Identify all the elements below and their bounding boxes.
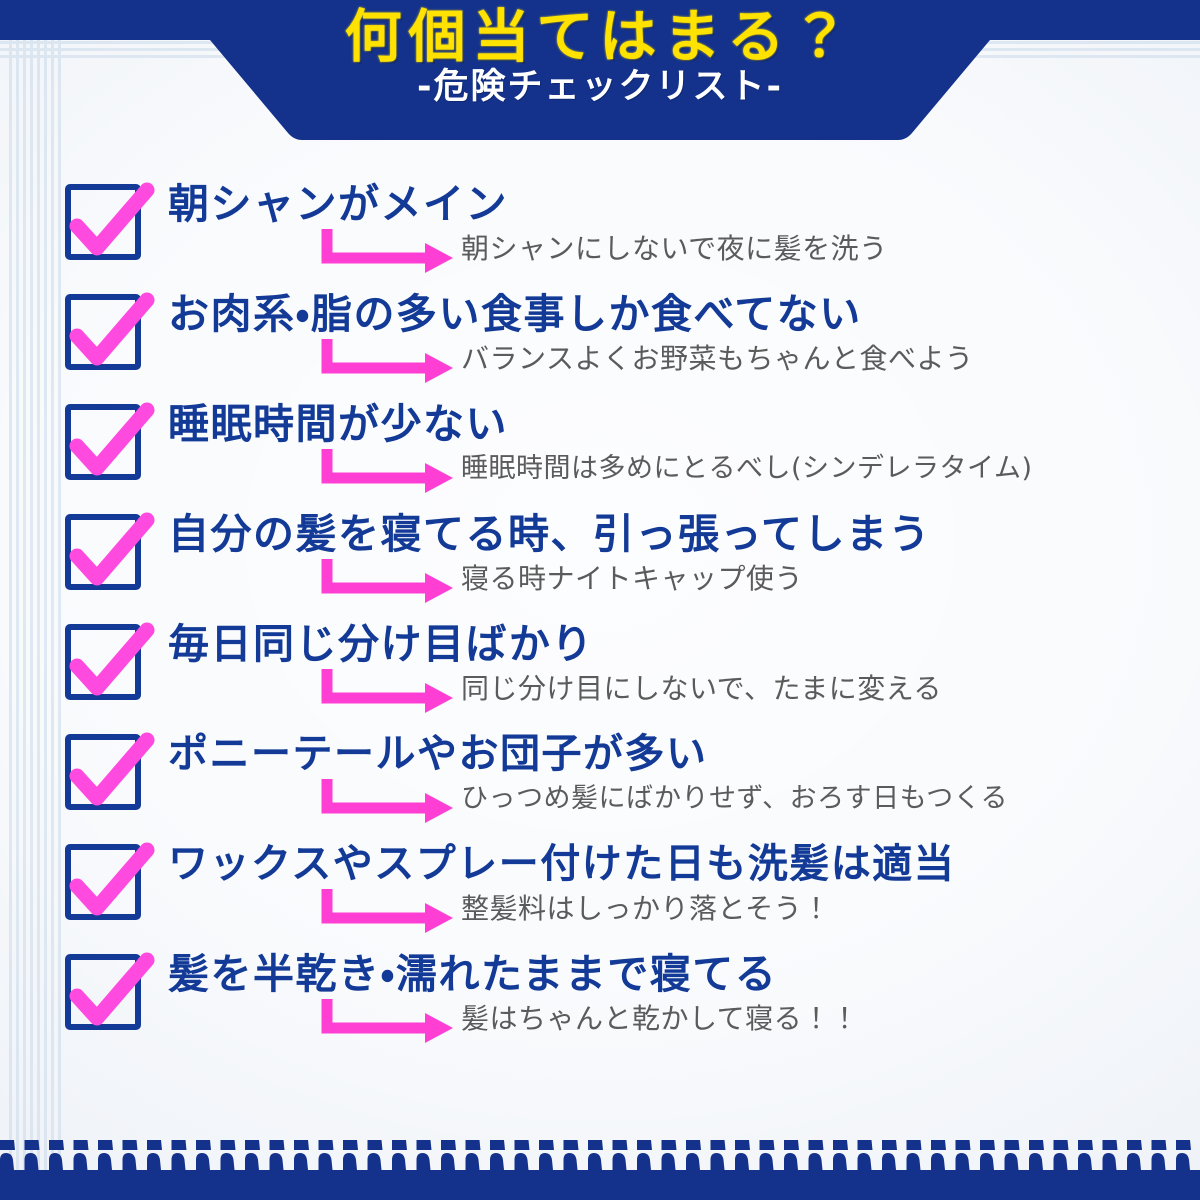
elbow-arrow-right-icon: [322, 777, 457, 821]
advice-text: バランスよくお野菜もちゃんと食べよう: [461, 342, 973, 376]
advice-text: 寝る時ナイトキャップ使う: [461, 562, 803, 596]
elbow-arrow-right-icon: [322, 997, 457, 1041]
elbow-arrow-right-icon: [322, 887, 457, 931]
checklist-row[interactable]: ワックスやスプレー付けた日も洗髪は適当 整髪料はしっかり落とそう！: [0, 835, 1200, 945]
checklist-item-label: お肉系・脂の多い食事しか食べてない: [168, 289, 862, 340]
advice-line: 朝シャンにしないで夜に髪を洗う: [322, 227, 888, 271]
checkbox-checked-icon[interactable]: [63, 952, 149, 1038]
checkbox-checked-icon[interactable]: [63, 182, 149, 268]
elbow-arrow-right-icon: [322, 557, 457, 601]
elbow-arrow-right-icon: [322, 227, 457, 271]
advice-line: 同じ分け目にしないで、たまに変える: [322, 667, 942, 711]
elbow-arrow-right-icon: [322, 667, 457, 711]
header-banner-shape: [0, 0, 1200, 140]
checklist-row[interactable]: 髪を半乾き・濡れたままで寝てる 髪はちゃんと乾かして寝る！！: [0, 945, 1200, 1055]
elbow-arrow-right-icon: [322, 337, 457, 381]
footer-decoration: [0, 1120, 1200, 1200]
advice-line: 整髪料はしっかり落とそう！: [322, 887, 831, 931]
checkbox-checked-icon[interactable]: [63, 732, 149, 818]
checkbox-checked-icon[interactable]: [63, 292, 149, 378]
checklist-item-label: 毎日同じ分け目ばかり: [168, 619, 594, 670]
sawtooth-border-icon: [0, 1120, 1200, 1200]
checklist-item-label: ワックスやスプレー付けた日も洗髪は適当: [168, 839, 955, 889]
advice-text: 朝シャンにしないで夜に髪を洗う: [461, 232, 888, 266]
checklist-row[interactable]: 睡眠時間が少ない 睡眠時間は多めにとるべし(シンデレラタイム): [0, 395, 1200, 505]
advice-text: 髪はちゃんと乾かして寝る！！: [461, 1002, 859, 1036]
advice-text: 同じ分け目にしないで、たまに変える: [461, 672, 942, 706]
advice-text: ひっつめ髪にばかりせず、おろす日もつくる: [461, 783, 1008, 815]
checklist-item-label: 自分の髪を寝てる時、引っ張ってしまう: [168, 509, 931, 560]
poster-canvas: 何個当てはまる？ -危険チェックリスト- 朝シャンがメイン 朝シャンにしないで夜…: [0, 0, 1200, 1200]
advice-text: 睡眠時間は多めにとるべし(シンデレラタイム): [461, 453, 1033, 485]
advice-line: バランスよくお野菜もちゃんと食べよう: [322, 337, 973, 381]
header-banner: [0, 0, 1200, 140]
checklist-item-label: 睡眠時間が少ない: [168, 399, 508, 450]
checkbox-checked-icon[interactable]: [63, 842, 149, 928]
checklist-row[interactable]: 自分の髪を寝てる時、引っ張ってしまう 寝る時ナイトキャップ使う: [0, 505, 1200, 615]
checkbox-checked-icon[interactable]: [63, 622, 149, 708]
advice-line: ひっつめ髪にばかりせず、おろす日もつくる: [322, 777, 1008, 821]
checklist: 朝シャンがメイン 朝シャンにしないで夜に髪を洗う お肉系・脂の多い食事しか食べて…: [0, 175, 1200, 1055]
checklist-item-label: 髪を半乾き・濡れたままで寝てる: [168, 949, 777, 1000]
advice-text: 整髪料はしっかり落とそう！: [461, 892, 831, 926]
advice-line: 寝る時ナイトキャップ使う: [322, 557, 803, 601]
checklist-row[interactable]: ポニーテールやお団子が多い ひっつめ髪にばかりせず、おろす日もつくる: [0, 725, 1200, 835]
checklist-item-label: 朝シャンがメイン: [168, 179, 508, 230]
advice-line: 髪はちゃんと乾かして寝る！！: [322, 997, 859, 1041]
checklist-row[interactable]: お肉系・脂の多い食事しか食べてない バランスよくお野菜もちゃんと食べよう: [0, 285, 1200, 395]
advice-line: 睡眠時間は多めにとるべし(シンデレラタイム): [322, 447, 1033, 491]
checkbox-checked-icon[interactable]: [63, 512, 149, 598]
checklist-row[interactable]: 毎日同じ分け目ばかり 同じ分け目にしないで、たまに変える: [0, 615, 1200, 725]
checklist-row[interactable]: 朝シャンがメイン 朝シャンにしないで夜に髪を洗う: [0, 175, 1200, 285]
checklist-item-label: ポニーテールやお団子が多い: [168, 729, 708, 779]
checkbox-checked-icon[interactable]: [63, 402, 149, 488]
elbow-arrow-right-icon: [322, 447, 457, 491]
